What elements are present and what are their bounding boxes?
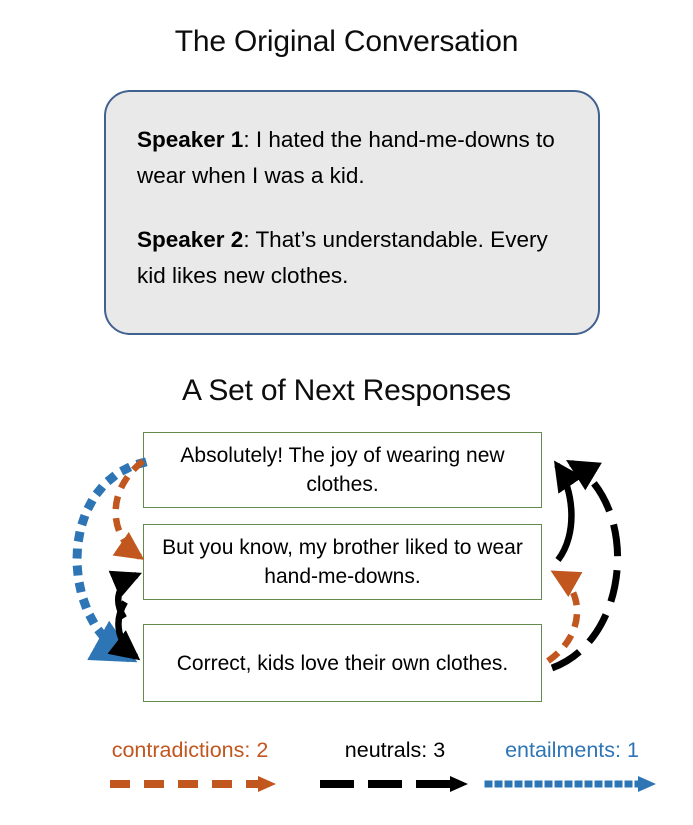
arrow-contradiction-1-to-2 <box>116 461 143 557</box>
utterance-speaker-1: Speaker 1: I hated the hand-me-downs to … <box>137 122 576 194</box>
speaker-label-2: Speaker 2 <box>137 227 243 252</box>
arrow-neutral-2-to-1-right <box>557 465 571 560</box>
response-text-2: But you know, my brother liked to wear h… <box>154 533 531 591</box>
arrow-neutral-3-to-2-left <box>118 575 137 618</box>
legend-entry-neutrals: neutrals: 3 <box>300 738 490 803</box>
legend-sample-neutrals-dashed-arrow <box>300 771 490 803</box>
original-conversation-box: Speaker 1: I hated the hand-me-downs to … <box>104 90 600 335</box>
response-box-2: But you know, my brother liked to wear h… <box>143 524 542 600</box>
response-text-3: Correct, kids love their own clothes. <box>177 649 508 678</box>
conversation-text: Speaker 1: I hated the hand-me-downs to … <box>137 122 576 294</box>
page-title-next-responses: A Set of Next Responses <box>0 374 693 408</box>
arrow-entailment-1-to-3 <box>77 463 142 657</box>
legend-sample-contradictions-dashed-arrow <box>70 771 310 803</box>
response-text-1: Absolutely! The joy of wearing new cloth… <box>154 441 531 499</box>
legend-sample-entailments-dotted-arrow <box>466 771 678 803</box>
response-box-1: Absolutely! The joy of wearing new cloth… <box>143 432 542 508</box>
legend: contradictions: 2 neutrals: 3 entailment… <box>0 738 693 820</box>
legend-entry-contradictions: contradictions: 2 <box>70 738 310 803</box>
speaker-label-1: Speaker 1 <box>137 127 243 152</box>
page-title-original-conversation: The Original Conversation <box>0 25 693 59</box>
arrow-neutral-2-to-3-left <box>118 602 136 657</box>
speaker-separator-2: : <box>243 227 255 252</box>
speaker-separator-1: : <box>243 127 256 152</box>
arrow-neutral-3-to-1-right <box>552 463 618 668</box>
legend-label-entailments: entailments: 1 <box>466 738 678 763</box>
legend-entry-entailments: entailments: 1 <box>466 738 678 803</box>
arrow-contradiction-3-to-2-right <box>548 573 577 661</box>
response-box-3: Correct, kids love their own clothes. <box>143 624 542 702</box>
legend-label-contradictions: contradictions: 2 <box>70 738 310 763</box>
utterance-speaker-2: Speaker 2: That’s understandable. Every … <box>137 222 576 294</box>
legend-label-neutrals: neutrals: 3 <box>300 738 490 763</box>
